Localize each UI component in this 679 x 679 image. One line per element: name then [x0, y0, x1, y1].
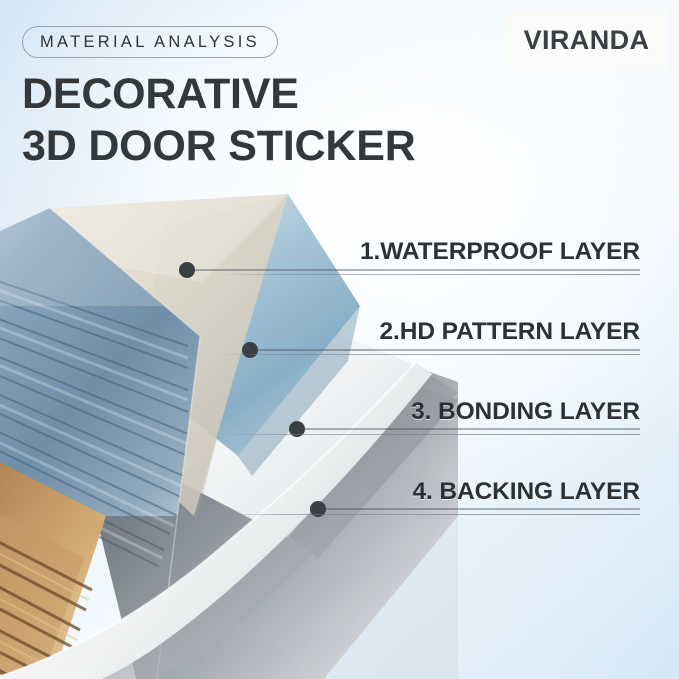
page-title-line-1: DECORATIVE	[22, 68, 502, 120]
brand-logo-box: VIRANDA	[505, 10, 668, 70]
layer-callout-4-label: 4. BACKING LAYER	[220, 480, 640, 505]
poster-canvas: MATERIAL ANALYSIS DECORATIVE 3D DOOR STI…	[0, 0, 679, 679]
layer-callout-2-label: 2.HD PATTERN LAYER	[220, 320, 640, 345]
layer-callout-1-rule	[220, 274, 640, 275]
layer-callout-3-label: 3. BONDING LAYER	[220, 400, 640, 425]
brand-name: VIRANDA	[524, 25, 650, 56]
page-title: DECORATIVE 3D DOOR STICKER	[22, 68, 502, 173]
eyebrow-badge: MATERIAL ANALYSIS	[22, 26, 278, 58]
eyebrow-label: MATERIAL ANALYSIS	[40, 34, 260, 51]
layer-callout-2: 2.HD PATTERN LAYER	[220, 320, 640, 355]
layer-callout-3: 3. BONDING LAYER	[220, 400, 640, 435]
layer-callout-1-label: 1.WATERPROOF LAYER	[220, 240, 640, 265]
layer-callout-1: 1.WATERPROOF LAYER	[220, 240, 640, 275]
layer-callout-4: 4. BACKING LAYER	[220, 480, 640, 515]
layer-callout-2-rule	[220, 354, 640, 355]
page-title-line-2: 3D DOOR STICKER	[22, 120, 502, 172]
layer-callout-3-rule	[220, 434, 640, 435]
layer-callout-4-rule	[220, 514, 640, 515]
